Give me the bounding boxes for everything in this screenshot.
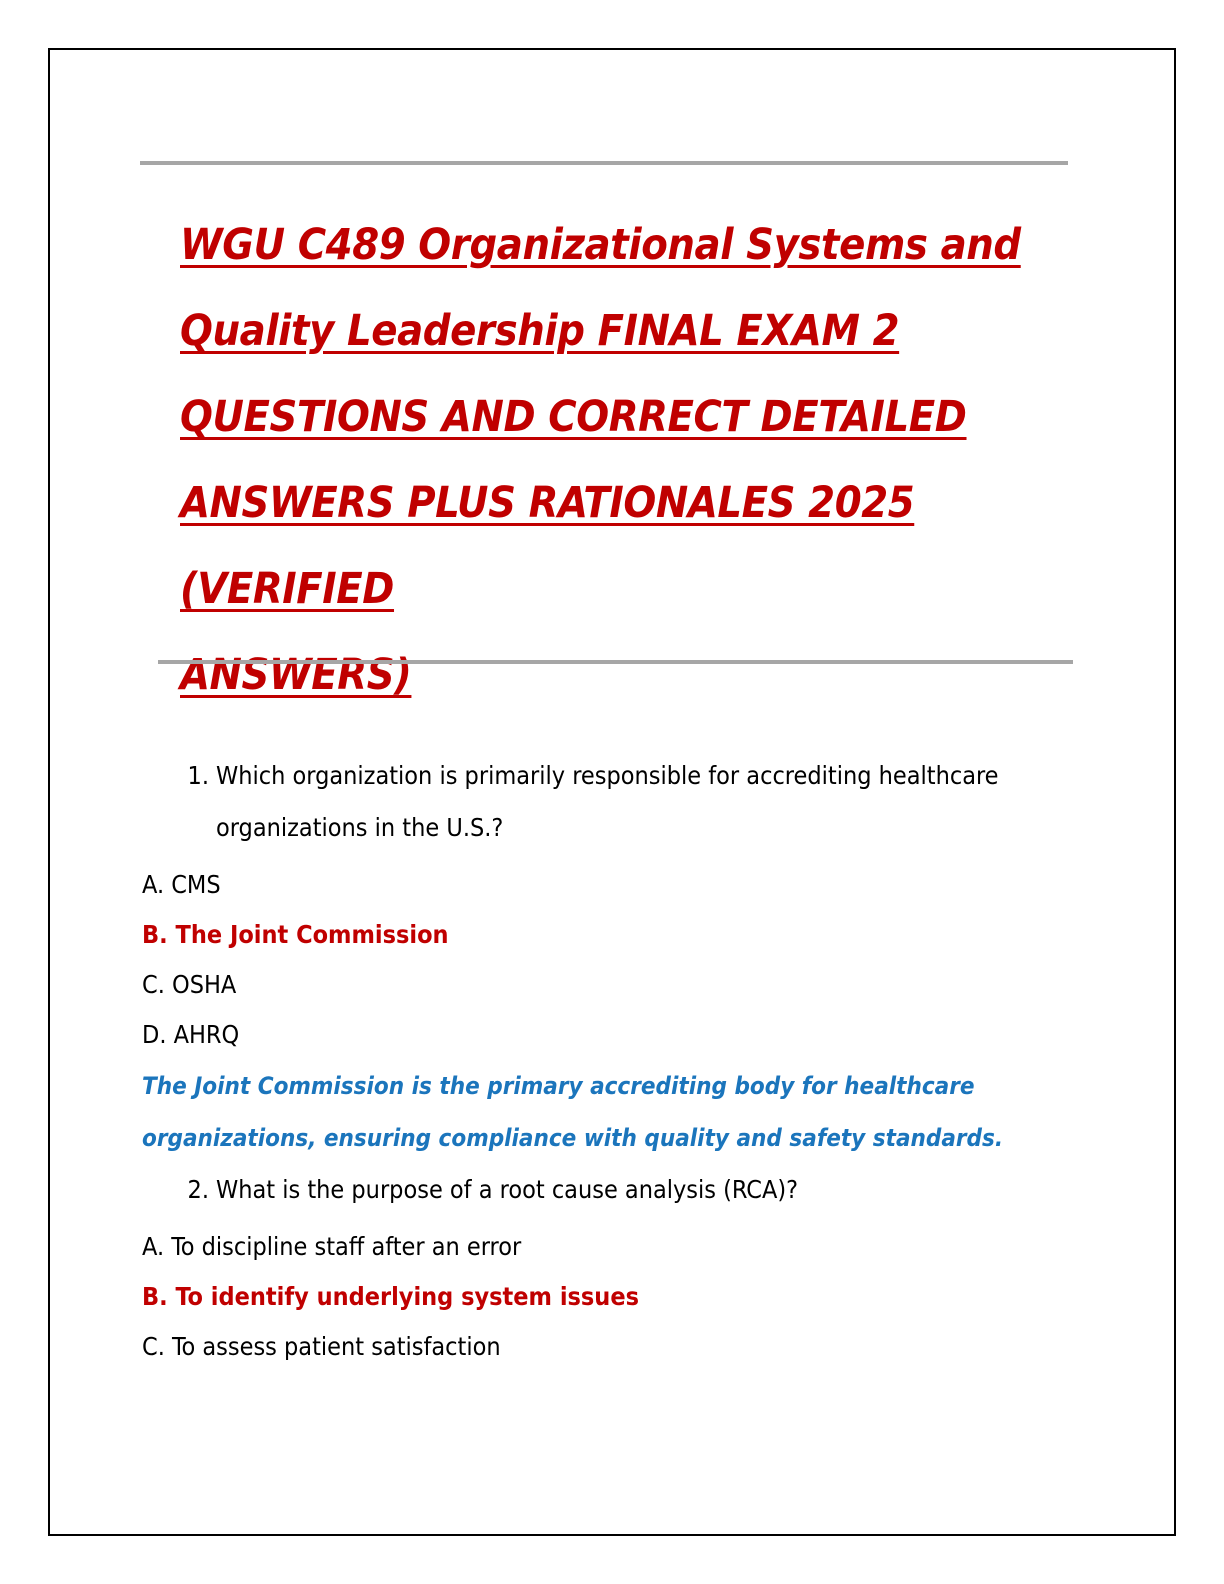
horizontal-rule-top — [140, 161, 1068, 165]
answer-option-a[interactable]: A. To discipline staff after an error — [50, 1222, 1174, 1272]
question-answer-body: 1. Which organization is primarily respo… — [50, 750, 1174, 1372]
horizontal-rule-bottom — [158, 660, 1073, 664]
answer-option-b[interactable]: B. To identify underlying system issues — [50, 1272, 1174, 1322]
title-line-4: ANSWERS PLUS RATIONALES 2025 (VERIFIED — [180, 478, 914, 614]
question-text: Which organization is primarily responsi… — [216, 761, 999, 842]
page-canvas: WGU C489 Organizational Systems and Qual… — [0, 0, 1224, 1584]
document-page-content: WGU C489 Organizational Systems and Qual… — [50, 50, 1174, 1534]
answer-option-c[interactable]: C. OSHA — [50, 960, 1174, 1010]
title-line-3: QUESTIONS AND CORRECT DETAILED — [180, 392, 967, 442]
question-item: 2. What is the purpose of a root cause a… — [50, 1164, 1076, 1216]
answer-option-c[interactable]: C. To assess patient satisfaction — [50, 1322, 1174, 1372]
title-line-1: WGU C489 Organizational Systems and — [180, 220, 1021, 270]
question-number: 2. — [175, 1164, 209, 1216]
answer-option-d[interactable]: D. AHRQ — [50, 1010, 1174, 1060]
question-text: What is the purpose of a root cause anal… — [216, 1175, 798, 1204]
page-title: WGU C489 Organizational Systems and Qual… — [180, 202, 1070, 718]
question-number: 1. — [175, 750, 209, 802]
question-item: 1. Which organization is primarily respo… — [50, 750, 1076, 854]
title-line-5: ANSWERS) — [180, 650, 411, 700]
answer-rationale: The Joint Commission is the primary accr… — [50, 1060, 1042, 1164]
answer-option-b[interactable]: B. The Joint Commission — [50, 910, 1174, 960]
document-page-border: WGU C489 Organizational Systems and Qual… — [48, 48, 1176, 1536]
title-line-2: Quality Leadership FINAL EXAM 2 — [180, 306, 899, 356]
answer-option-a[interactable]: A. CMS — [50, 860, 1174, 910]
